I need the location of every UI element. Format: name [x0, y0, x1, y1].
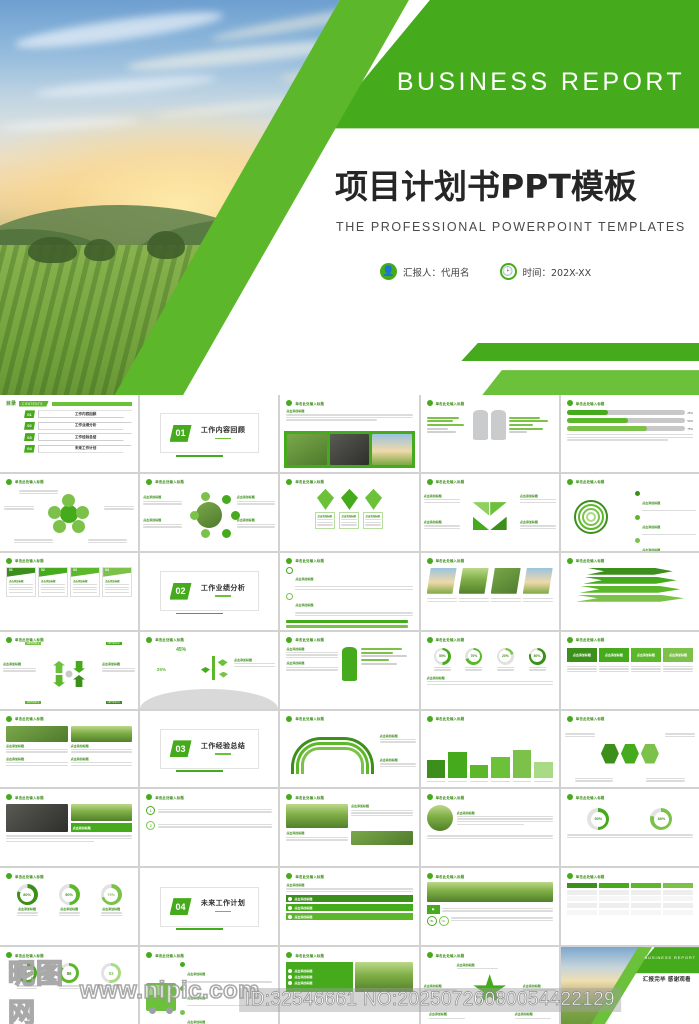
slide-header: 单击此处输入标题	[146, 637, 272, 643]
donut-stat: 20%	[497, 648, 514, 672]
thumbnail-grid: 目录 CONTENTS 01 工作内容回顾 02 工作业绩分析 03 工作经验总…	[0, 395, 699, 1024]
slide-header: 单击此处输入标题	[146, 479, 272, 485]
contents-item[interactable]: 02 工作业绩分析	[6, 422, 132, 430]
hero-subtitle: THE PROFESSIONAL POWERPOINT TEMPLATES	[336, 220, 686, 234]
center-photo-circle	[196, 502, 222, 528]
photo-thumb	[355, 962, 412, 992]
legend-item: 点击添加标题	[635, 515, 696, 537]
hero-slide: BUSINESS REPORT 项目计划书PPT模板 THE PROFESSIO…	[0, 0, 699, 395]
thumbnail-section-01[interactable]: 01 工作内容回顾	[140, 395, 278, 472]
slide-header-label: 单击此处输入标题	[576, 479, 605, 484]
slide-header: 单击此处输入标题	[427, 716, 553, 722]
slide-header-label: 单击此处输入标题	[436, 558, 465, 563]
bullet-icon	[6, 952, 12, 958]
slide-header-label: 单击此处输入标题	[295, 558, 324, 563]
thumbnail-progress-bars[interactable]: 单击此处输入标题 25% 50%	[561, 395, 699, 472]
thumbnail-green-list[interactable]: 单击此处输入标题 点击添加标题 点击添加标题 点击添加标题 点击添加标题	[280, 868, 418, 945]
contents-rule	[52, 402, 132, 406]
right-bars	[509, 415, 552, 435]
truck-row: 点击添加标题 点击添加标题 点击添加标题	[146, 962, 272, 1024]
note: 点击添加标题	[520, 494, 556, 504]
photo-thumb	[351, 831, 413, 845]
section-card: 01 工作内容回顾	[160, 413, 260, 453]
note-bottom-right	[88, 538, 127, 544]
slide-header: 单击此处输入标题	[567, 637, 693, 643]
donut-stat: 80% 点击添加标题	[17, 884, 38, 917]
bullet-icon	[567, 558, 573, 564]
score-stat: 86	[59, 963, 79, 990]
thumbnail-numbered-steps[interactable]: 单击此处输入标题 1 2	[140, 789, 278, 866]
presenter-label: 汇报人：代用名	[403, 265, 470, 279]
slide-header-label: 单击此处输入标题	[576, 558, 605, 563]
note-top	[19, 489, 58, 495]
photo-thumb	[427, 568, 457, 594]
thumbnail-photo-trio[interactable]: 单击此处输入标题 点击添加标题	[280, 395, 418, 472]
slide-header: 单击此处输入标题	[6, 794, 132, 800]
truck-note: 点击添加标题	[180, 1010, 272, 1024]
slide-header-label: 单击此处输入标题	[436, 401, 465, 406]
column-card: 02 点击添加标题	[38, 567, 68, 598]
thumbnail-body-compare[interactable]: 单击此处输入标题	[421, 395, 559, 472]
photo-panel	[284, 431, 414, 468]
slide-header: 单击此处输入标题	[6, 873, 132, 879]
leaf-icon	[219, 672, 228, 678]
donut-stat: 70% 点击添加标题	[101, 884, 122, 917]
slide-header-label: 单击此处输入标题	[15, 479, 44, 484]
option-label: OPTION 2	[106, 642, 122, 645]
thumbnail-concentric-rings[interactable]: 单击此处输入标题 点击添加标题 点击添加标题 点击添加标题 点击添加标题	[561, 474, 699, 551]
donut-stat: 50%	[434, 648, 451, 672]
note	[565, 732, 595, 738]
thumbnail-photo-diagonals[interactable]: 单击此处输入标题	[421, 553, 559, 630]
thumbnail-circular-arrows[interactable]: 单击此处输入标题 OPTION 1 OPTION 2 OPTION 3 OPTI…	[0, 632, 138, 709]
photo-note-row: 点击添加标题 点击添加标题	[6, 757, 132, 767]
bullet-icon	[146, 637, 152, 643]
bullet-icon	[567, 716, 573, 722]
bullet-icon	[567, 794, 573, 800]
bullet-icon	[567, 400, 573, 406]
score-value: 86	[62, 966, 76, 980]
progress-value: 25%	[687, 411, 693, 415]
section-number: 03	[170, 740, 192, 757]
progress-value: 75%	[687, 427, 693, 431]
ring-node	[201, 492, 210, 501]
note: 点击添加标题	[102, 662, 135, 672]
thumbnail-star-diagram[interactable]: 单击此处输入标题 点击添加标题 点击添加标题 点击添加标题 点击添加标题 点击添…	[421, 947, 559, 1024]
donut-stat: 70%	[465, 648, 482, 672]
note-left	[4, 505, 34, 511]
progress-value: 50%	[687, 419, 693, 423]
slide-header: 单击此处输入标题	[427, 873, 553, 879]
thumbnail-section-02[interactable]: 02 工作业绩分析	[140, 553, 278, 630]
green-item: 点击添加标题	[286, 895, 412, 902]
contents-item-label: 工作内容回顾	[38, 410, 132, 418]
slide-header: 单击此处输入标题	[567, 400, 693, 406]
option-label: OPTION 1	[25, 642, 41, 645]
leaf-card: 点击添加标题	[315, 489, 335, 529]
slide-header-label: 单击此处输入标题	[295, 479, 324, 484]
slide-header: 单击此处输入标题	[427, 400, 553, 406]
slide-header-label: 单击此处输入标题	[15, 953, 44, 958]
green-item: 点击添加标题	[286, 913, 412, 920]
note: 点击添加标题	[520, 520, 556, 530]
intro-text-block: 点击添加标题	[286, 409, 412, 421]
bullet-icon	[286, 716, 292, 722]
bullet-icon	[146, 794, 152, 800]
flag-row: ⚑	[427, 905, 553, 914]
photo-thumb	[287, 434, 326, 465]
pinwheel-diagram	[473, 502, 507, 530]
slide-header-label: 单击此处输入标题	[436, 479, 465, 484]
slide-header: 单击此处输入标题	[6, 952, 132, 958]
contents-item-number: 03	[24, 433, 35, 441]
note-right: 点击添加标题	[237, 495, 276, 505]
bar-chart	[427, 748, 553, 778]
slide-header: 单击此处输入标题	[567, 479, 693, 485]
leaf-card: 点击添加标题	[339, 489, 359, 529]
bullet-icon	[567, 637, 573, 643]
slide-header-label: 单击此处输入标题	[436, 953, 465, 958]
hero-brand-text: BUSINESS REPORT	[397, 68, 685, 97]
slide-header-label: 单击此处输入标题	[155, 953, 184, 958]
donut-value: 50%	[62, 888, 76, 902]
truck-note: 点击添加标题	[180, 962, 272, 984]
bullet-icon	[6, 873, 12, 879]
hex-cluster	[601, 744, 659, 764]
slide-header: 单击此处输入标题	[567, 873, 693, 879]
slide-header: 单击此处输入标题	[6, 479, 132, 485]
slide-header: 单击此处输入标题	[286, 794, 412, 800]
slide-header: 单击此处输入标题	[6, 558, 132, 564]
tag-caption-row	[567, 665, 693, 674]
slide-header-label: 单击此处输入标题	[15, 716, 44, 721]
note: 点击添加标题	[523, 984, 556, 992]
photo-thumb	[523, 568, 553, 594]
bullet-icon	[146, 479, 152, 485]
step-row: 1	[146, 806, 272, 815]
slide-header: 单击此处输入标题	[286, 479, 412, 485]
step-row: 2	[146, 821, 272, 830]
section-underline	[215, 438, 231, 439]
section-number: 04	[170, 898, 192, 915]
bullet-icon	[146, 952, 152, 958]
score-row: 64 86 53	[6, 963, 132, 990]
note: 点击添加标题	[380, 734, 416, 744]
column-card: 04 点击添加标题	[102, 567, 132, 598]
slide-header-label: 单击此处输入标题	[436, 716, 465, 721]
table-row	[567, 883, 693, 888]
slide-header-label: 单击此处输入标题	[576, 795, 605, 800]
leaf-icon	[201, 667, 210, 673]
photo-thumb	[459, 568, 489, 594]
section-underline	[215, 753, 231, 754]
thumbnail-final-thanks[interactable]: BUSINESS REPORT 汇报完毕 感谢观看	[561, 947, 699, 1024]
photo-thumb	[6, 804, 68, 832]
photo-banner	[427, 882, 553, 902]
thumbnail-bar-chart[interactable]: 单击此处输入标题	[421, 711, 559, 788]
bullet-icon	[6, 558, 12, 564]
bullet-icon	[286, 479, 292, 485]
slide-header-label: 单击此处输入标题	[155, 795, 184, 800]
table	[567, 883, 693, 914]
body-label: 点击添加标题	[286, 409, 412, 413]
note	[665, 732, 695, 738]
compare-row	[427, 410, 553, 440]
bar-axis-labels	[427, 780, 553, 784]
slide-header-label: 单击此处输入标题	[436, 795, 465, 800]
donut-value: 70%	[104, 888, 118, 902]
tag-card: 点击添加标题	[631, 648, 661, 662]
cloud-shape	[35, 71, 217, 101]
column-card: 03 点击添加标题	[70, 567, 100, 598]
thumbnail-person-stats[interactable]: 单击此处输入标题 点击添加标题点击添加标题	[280, 632, 418, 709]
date-label: 时间：202X-XX	[523, 265, 592, 279]
bullet-icon	[567, 873, 573, 879]
bullet-icon	[286, 558, 292, 564]
donut-row: 80% 点击添加标题 50% 点击添加标题 70% 点击添加标题	[6, 884, 132, 917]
section-title: 未来工作计划	[201, 898, 245, 908]
chevron-stack	[567, 568, 693, 602]
panel-photo-row: 点击添加标题 点击添加标题 点击添加标题	[286, 962, 412, 992]
bullet-icon	[427, 637, 433, 643]
bullet-icon	[567, 479, 573, 485]
leaf-icon	[218, 659, 228, 666]
note: 点击添加标题	[234, 658, 275, 668]
leaf-icon	[341, 489, 358, 510]
contents-item[interactable]: 01 工作内容回顾	[6, 410, 132, 418]
tag-pill: 50L	[439, 916, 449, 926]
contents-en-label: CONTENTS	[19, 401, 49, 407]
bullet-icon	[427, 873, 433, 879]
tree-shape	[84, 239, 115, 261]
slide-header-label: 单击此处输入标题	[295, 795, 324, 800]
bullet-icon	[286, 794, 292, 800]
section-footer-bar	[176, 928, 223, 930]
slide-header-label: 单击此处输入标题	[576, 716, 605, 721]
contents-header: 目录 CONTENTS	[6, 400, 132, 407]
thumbnail-tag-row[interactable]: 单击此处输入标题 点击添加标题 点击添加标题 点击添加标题 点击添加标题	[561, 632, 699, 709]
slide-header-label: 单击此处输入标题	[576, 637, 605, 642]
bullet-icon	[6, 479, 12, 485]
tag-card: 点击添加标题	[567, 648, 597, 662]
ring-node	[222, 495, 231, 504]
section-number: 01	[170, 425, 192, 442]
thumbnail-percent-donuts-b[interactable]: 单击此处输入标题 80% 点击添加标题 50% 点击添加标题	[0, 868, 138, 945]
score-value: 64	[20, 966, 34, 980]
section-underline	[215, 595, 231, 596]
section-card: 04 未来工作计划	[160, 887, 260, 927]
slide-header: 单击此处输入标题	[567, 794, 693, 800]
table-row	[567, 896, 693, 901]
section-footer-bar	[176, 455, 223, 457]
ring-node	[201, 529, 210, 538]
bullet-icon	[6, 794, 12, 800]
progress-list: 25% 50% 75%	[567, 410, 693, 441]
table-row	[567, 903, 693, 908]
donut-stat: 80%	[529, 648, 546, 672]
icon-note: 点击添加标题	[286, 593, 412, 617]
contents-item-label: 未来工作计划	[38, 445, 132, 453]
note: 点击添加标题	[515, 1012, 551, 1020]
slide-header-label: 单击此处输入标题	[295, 401, 324, 406]
section-footer-bar	[176, 613, 223, 615]
thumbnail-contents[interactable]: 目录 CONTENTS 01 工作内容回顾 02 工作业绩分析 03 工作经验总…	[0, 395, 138, 472]
donut-stat: 80%	[650, 808, 672, 830]
thumbnail-photo-left-text[interactable]: 单击此处输入标题 点击添加标题 点击添加标题	[280, 789, 418, 866]
note: 点击添加标题	[429, 1012, 465, 1020]
tree-shape	[147, 231, 185, 259]
donut-value: 70%	[468, 650, 480, 662]
slide-header: 单击此处输入标题	[286, 952, 412, 958]
slide-header: 单击此处输入标题	[427, 952, 553, 958]
legend-item: 点击添加标题	[635, 538, 696, 550]
slide-header-label: 单击此处输入标题	[155, 479, 184, 484]
thumbnail-field-photo-flag[interactable]: 单击此处输入标题 ⚑ 75L 50L	[421, 868, 559, 945]
thumbnail-circle-photo-ring[interactable]: 单击此处输入标题 点击添加标题 点击添加标题 点击添加标题 点击添加标题	[140, 474, 278, 551]
thumbnail-curved-ribbon[interactable]: 单击此处输入标题 点击添加标题 点击添加标题	[280, 711, 418, 788]
slide-header-label: 单击此处输入标题	[436, 637, 465, 642]
bullet-icon	[427, 558, 433, 564]
slide-header: 单击此处输入标题	[567, 558, 693, 564]
note-left: 点击添加标题	[143, 495, 182, 505]
bullet-icon	[286, 952, 292, 958]
hero-green-step-upper	[461, 343, 699, 361]
cluster-diagram	[56, 501, 82, 527]
thumbnail-chevron-flow[interactable]: 单击此处输入标题	[561, 553, 699, 630]
thumbnail-culture-cluster[interactable]: 单击此处输入标题	[0, 474, 138, 551]
note: 点击添加标题	[3, 662, 36, 672]
slide-header: 单击此处输入标题	[286, 716, 412, 722]
tag-pill-row: 75L 50L	[427, 916, 553, 926]
legend-item: 点击添加标题	[635, 491, 696, 513]
section-text: 未来工作计划	[199, 898, 248, 914]
cloud-shape	[14, 5, 224, 54]
photo-thumb	[330, 434, 369, 465]
column-card: 01 点击添加标题	[6, 567, 36, 598]
thumbnail-score-donuts[interactable]: 单击此处输入标题 64 86 53	[0, 947, 138, 1024]
clock-icon: 🕑	[500, 263, 517, 280]
note: 点击添加标题	[424, 984, 457, 992]
section-text: 工作内容回顾	[199, 425, 248, 441]
thumbnail-icon-bars[interactable]: 单击此处输入标题 点击添加标题 点击添加标题	[280, 553, 418, 630]
thumbnail-greenpanel-photo[interactable]: 单击此处输入标题 点击添加标题 点击添加标题 点击添加标题	[280, 947, 418, 1024]
photo-thumb	[71, 804, 133, 821]
slide-header: 单击此处输入标题	[427, 637, 553, 643]
caption-bar: 点击添加标题	[71, 823, 133, 832]
thumbnail-data-table[interactable]: 单击此处输入标题	[561, 868, 699, 945]
contents-item[interactable]: 03 工作经验总结	[6, 433, 132, 441]
donut-stat: 50%	[587, 808, 609, 830]
cloud-shape	[0, 115, 140, 133]
donut-value: 80%	[531, 650, 543, 662]
ring-node	[190, 511, 199, 520]
thumbnail-percent-donuts-a[interactable]: 单击此处输入标题 50% 70% 20%	[421, 632, 559, 709]
section-card: 02 工作业绩分析	[160, 571, 260, 611]
truck-icon	[146, 983, 176, 1011]
tag-card: 点击添加标题	[599, 648, 629, 662]
slide-header: 单击此处输入标题	[286, 558, 412, 564]
table-row	[567, 890, 693, 895]
donut-value: 80%	[654, 812, 669, 827]
leaf-icon	[365, 489, 382, 510]
leaf-card-body: 点击添加标题	[339, 512, 359, 529]
section-footer-bar	[176, 770, 223, 772]
thumbnail-leaf-cards[interactable]: 单击此处输入标题 点击添加标题 点击添加标题	[280, 474, 418, 551]
donut-value: 50%	[436, 650, 448, 662]
slide-header-label: 单击此处输入标题	[295, 874, 324, 879]
photo-pair: 点击添加标题	[6, 804, 132, 832]
donut-stat: 50% 点击添加标题	[59, 884, 80, 917]
body-silhouette-icon	[491, 410, 506, 440]
table-row	[567, 910, 693, 915]
slide-header-label: 单击此处输入标题	[576, 874, 605, 879]
growth-value: 25%	[157, 667, 166, 672]
note-bottom	[14, 538, 53, 544]
section-title: 工作业绩分析	[201, 583, 245, 593]
concentric-rings-diagram	[574, 500, 608, 534]
bullet-icon	[286, 400, 292, 406]
slide-header: 单击此处输入标题	[427, 558, 553, 564]
bullet-icon	[427, 716, 433, 722]
green-item: 点击添加标题	[286, 904, 412, 911]
thumbnail-pinwheel[interactable]: 单击此处输入标题 点击添加标题 点击添加标题 点击添加标题 点击添加标题	[421, 474, 559, 551]
slide-header-label: 单击此处输入标题	[15, 795, 44, 800]
star-icon	[473, 974, 507, 1006]
bullet-icon	[6, 637, 12, 643]
thumbnail-section-04[interactable]: 04 未来工作计划	[140, 868, 278, 945]
thumbnail-growth-plant[interactable]: 单击此处输入标题 45% 25% 35% 点击添加标题	[140, 632, 278, 709]
thumbnail-percent-donuts-c[interactable]: 单击此处输入标题 50% 80%	[561, 789, 699, 866]
photo-text-row: 点击添加标题	[286, 804, 412, 828]
ring-node	[222, 529, 231, 538]
section-title: 工作内容回顾	[201, 425, 245, 435]
thumbnail-four-columns[interactable]: 单击此处输入标题 01 点击添加标题 02 点击添加标题 03 点击添加标题 0…	[0, 553, 138, 630]
bullet-icon	[427, 400, 433, 406]
contents-item-number: 01	[24, 410, 35, 418]
bullet-icon	[286, 873, 292, 879]
thumbnail-photo-notes[interactable]: 单击此处输入标题 点击添加标题 点击添加标题 点击添加标题 点击添加标题	[0, 711, 138, 788]
contents-item[interactable]: 04 未来工作计划	[6, 445, 132, 453]
leaf-card-body: 点击添加标题	[363, 512, 383, 529]
caption-row	[427, 597, 553, 603]
leaf-card: 点击添加标题	[363, 489, 383, 529]
section-number: 02	[170, 583, 192, 600]
slide-header-label: 单击此处输入标题	[155, 637, 184, 642]
bullet-icon	[427, 479, 433, 485]
date-meta: 🕑 时间：202X-XX	[500, 263, 592, 280]
leaf-card-body: 点击添加标题	[315, 512, 335, 529]
contents-item-label: 工作经验总结	[38, 433, 132, 441]
photo-thumb	[286, 804, 348, 828]
final-brand-text: BUSINESS REPORT	[645, 955, 696, 960]
note	[575, 776, 614, 782]
person-icon: 👤	[380, 263, 397, 280]
thumbnail-hex-cluster[interactable]: 单击此处输入标题	[561, 711, 699, 788]
thumbnail-truck-list[interactable]: 单击此处输入标题 点击添加标题 点击添加标题 点击添加标题	[140, 947, 278, 1024]
thumbnail-circle-photo-text[interactable]: 单击此处输入标题 点击添加标题	[421, 789, 559, 866]
slide-header: 单击此处输入标题	[6, 716, 132, 722]
plant-stem	[212, 656, 215, 680]
green-panel: 点击添加标题 点击添加标题 点击添加标题	[286, 962, 353, 992]
body-silhouette-icon	[473, 410, 488, 440]
progress-row: 25%	[567, 410, 693, 415]
slide-header-label: 单击此处输入标题	[436, 874, 465, 879]
option-label: OPTION 4	[106, 701, 122, 704]
legend-list: 点击添加标题 点击添加标题 点击添加标题 点击添加标题	[635, 491, 696, 551]
thumbnail-cup-photos[interactable]: 单击此处输入标题 点击添加标题	[0, 789, 138, 866]
thumbnail-section-03[interactable]: 03 工作经验总结	[140, 711, 278, 788]
hero-green-step-lower	[482, 370, 699, 395]
